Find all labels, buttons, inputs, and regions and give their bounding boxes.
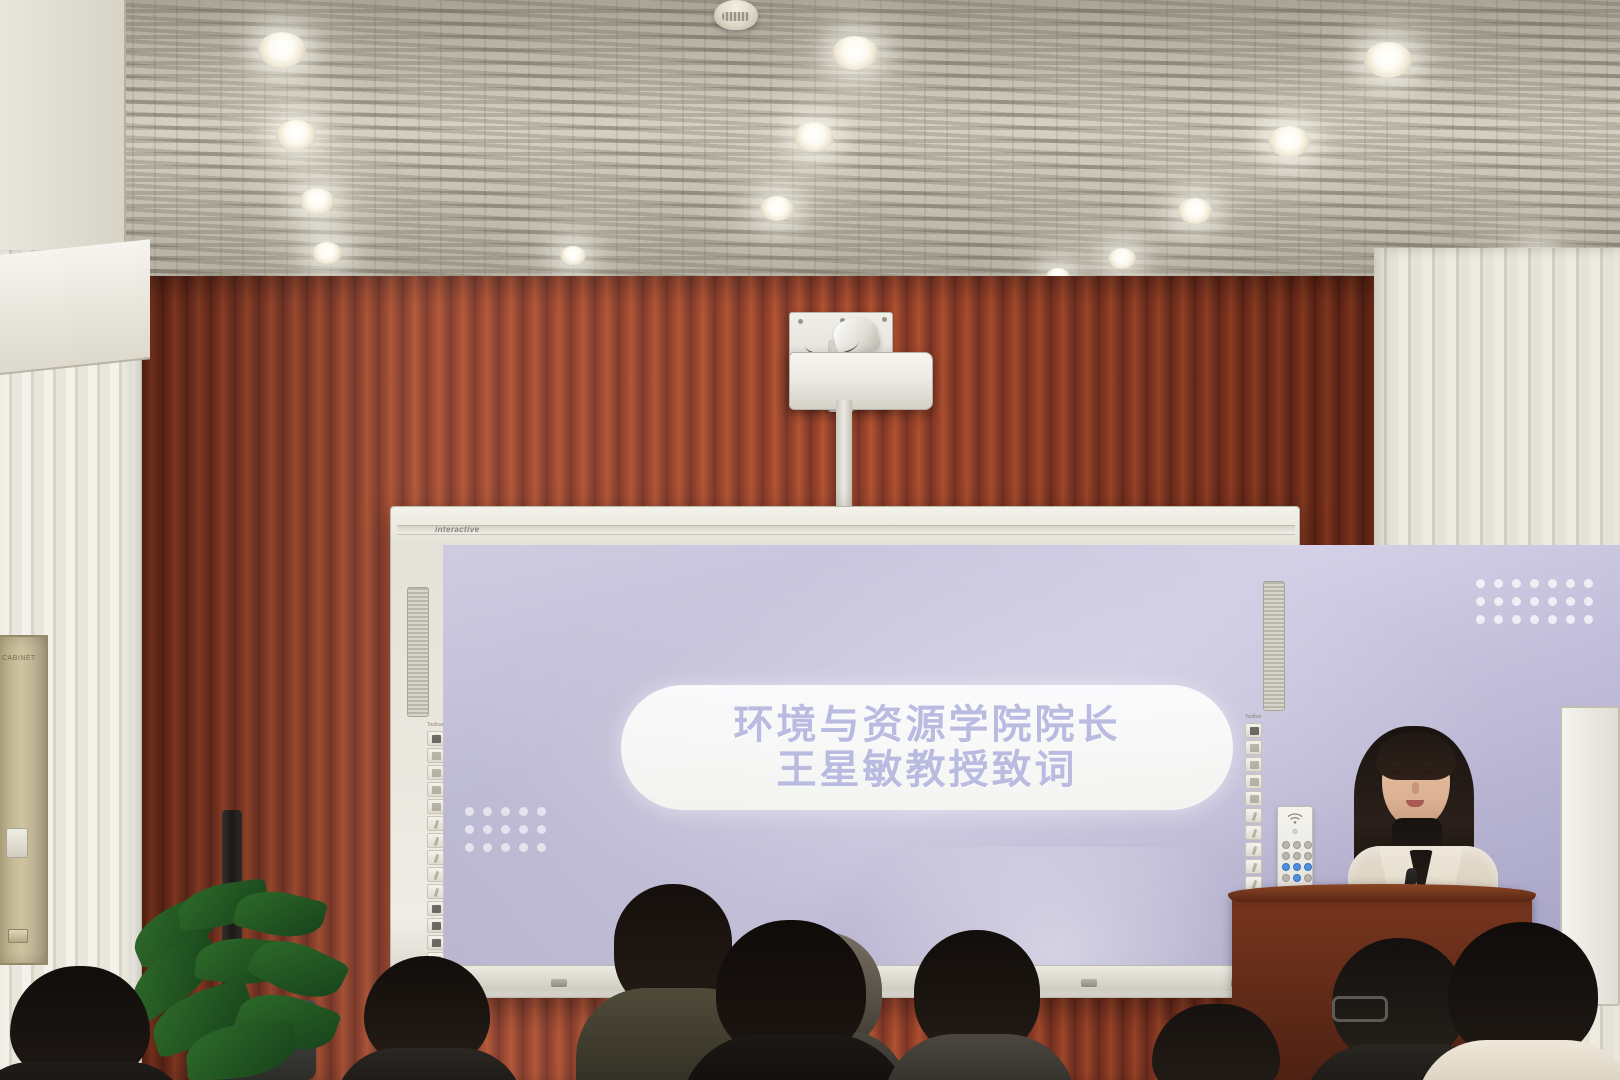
ceiling-downlight [1268, 126, 1310, 157]
toolbar-cursor-icon[interactable] [1245, 740, 1262, 755]
projector-drop-pole [836, 400, 852, 508]
toolbar-page-icon[interactable] [427, 765, 444, 780]
toolbar-undo-icon[interactable] [427, 782, 444, 797]
ceiling-downlight [794, 122, 834, 152]
slide-title-line-1: 环境与资源学院院长 [734, 703, 1121, 748]
ceiling-downlight [1364, 42, 1412, 78]
toolbar-camera-icon[interactable] [427, 918, 444, 933]
tray-clip [1081, 979, 1097, 987]
ceiling-downlight [760, 196, 794, 221]
ceiling-downlight [832, 36, 878, 70]
toolbar-highlighter-icon[interactable] [1245, 825, 1262, 840]
control-button-active[interactable] [1304, 863, 1312, 871]
toolbar-select-icon[interactable] [1245, 723, 1262, 738]
podium-top-surface [1228, 884, 1536, 902]
toolbar-label: Toolbar [1245, 714, 1261, 720]
toolbar-brush-icon[interactable] [427, 867, 444, 882]
board-brand-logo: interactive [435, 525, 479, 534]
audience-shoulders [680, 1034, 910, 1080]
control-button-active[interactable] [1293, 874, 1301, 882]
toolbar-redo-icon[interactable] [427, 799, 444, 814]
control-button[interactable] [1304, 841, 1312, 849]
toolbar-page-icon[interactable] [1245, 757, 1262, 772]
eye [1422, 770, 1432, 774]
smoke-detector-icon [714, 0, 758, 30]
toolbar-brush-icon[interactable] [1245, 859, 1262, 874]
toolbar-highlighter-icon[interactable] [427, 833, 444, 848]
toolbar-redo-icon[interactable] [1245, 791, 1262, 806]
board-left-toolbar[interactable]: Toolbar [427, 731, 444, 967]
toolbar-pen-icon[interactable] [427, 816, 444, 831]
toolbar-marker-icon[interactable] [427, 850, 444, 865]
ceiling-downlight [312, 242, 342, 264]
toolbar-undo-icon[interactable] [1245, 774, 1262, 789]
ceiling-downlight [300, 188, 334, 214]
slide-title-line-2: 王星敏教授致词 [777, 748, 1078, 793]
ceiling-downlight [1108, 248, 1136, 269]
power-led [1293, 829, 1298, 834]
audience-shoulders [1416, 1040, 1620, 1080]
lecture-hall-scene: CABINET PROPIX interactive [0, 0, 1620, 1080]
control-button[interactable] [1293, 852, 1301, 860]
toolbar-eraser-icon[interactable] [427, 884, 444, 899]
nose [1412, 782, 1419, 794]
ceiling-downlight [560, 246, 586, 265]
presenter-fringe [1376, 732, 1456, 780]
tray-clip [551, 979, 567, 987]
toolbar-keyboard-icon[interactable] [427, 935, 444, 950]
control-button[interactable] [1293, 841, 1301, 849]
eye [1392, 770, 1402, 774]
ceiling-downlight [1178, 198, 1212, 224]
control-button-active[interactable] [1293, 863, 1301, 871]
toolbar-pen-icon[interactable] [1245, 808, 1262, 823]
eyebrow [1420, 763, 1434, 766]
slide-dots-top-right [1476, 579, 1593, 624]
slide-title-pill: 环境与资源学院院长 王星敏教授致词 [621, 685, 1233, 810]
wifi-icon [1287, 813, 1303, 825]
audience-head [1152, 1004, 1280, 1080]
mount-screw [882, 317, 887, 322]
control-button[interactable] [1282, 874, 1290, 882]
left-soffit [0, 239, 150, 375]
ceiling-downlight [258, 32, 306, 68]
audience-shoulders [884, 1034, 1076, 1080]
toolbar-shape-icon[interactable] [427, 901, 444, 916]
left-speaker-grille [407, 587, 429, 717]
control-button[interactable] [1304, 874, 1312, 882]
cabinet-label: CABINET [2, 655, 46, 662]
toolbar-marker-icon[interactable] [1245, 842, 1262, 857]
control-button-grid[interactable] [1282, 841, 1312, 882]
wall-cabinet[interactable]: CABINET [0, 635, 48, 965]
toolbar-select-icon[interactable] [427, 731, 444, 746]
wall-socket [6, 828, 28, 858]
cabinet-handle[interactable] [8, 929, 28, 943]
mount-screw [798, 319, 803, 324]
audience-shoulders [334, 1048, 524, 1080]
ceiling-downlight [276, 120, 316, 150]
toolbar-cursor-icon[interactable] [427, 748, 444, 763]
ceiling-left-panel [0, 0, 126, 282]
projector: PROPIX [789, 352, 933, 410]
eyeglasses-icon [1332, 996, 1388, 1022]
slide-dots-bottom-left [465, 807, 546, 852]
control-button[interactable] [1304, 852, 1312, 860]
toolbar-label: Toolbar [427, 722, 443, 728]
board-top-rail [397, 525, 1295, 535]
control-button[interactable] [1282, 852, 1290, 860]
eyebrow [1390, 763, 1404, 766]
audience-shoulders [0, 1062, 190, 1080]
right-speaker-grille [1263, 581, 1285, 711]
control-button[interactable] [1282, 841, 1290, 849]
control-button-active[interactable] [1282, 863, 1290, 871]
